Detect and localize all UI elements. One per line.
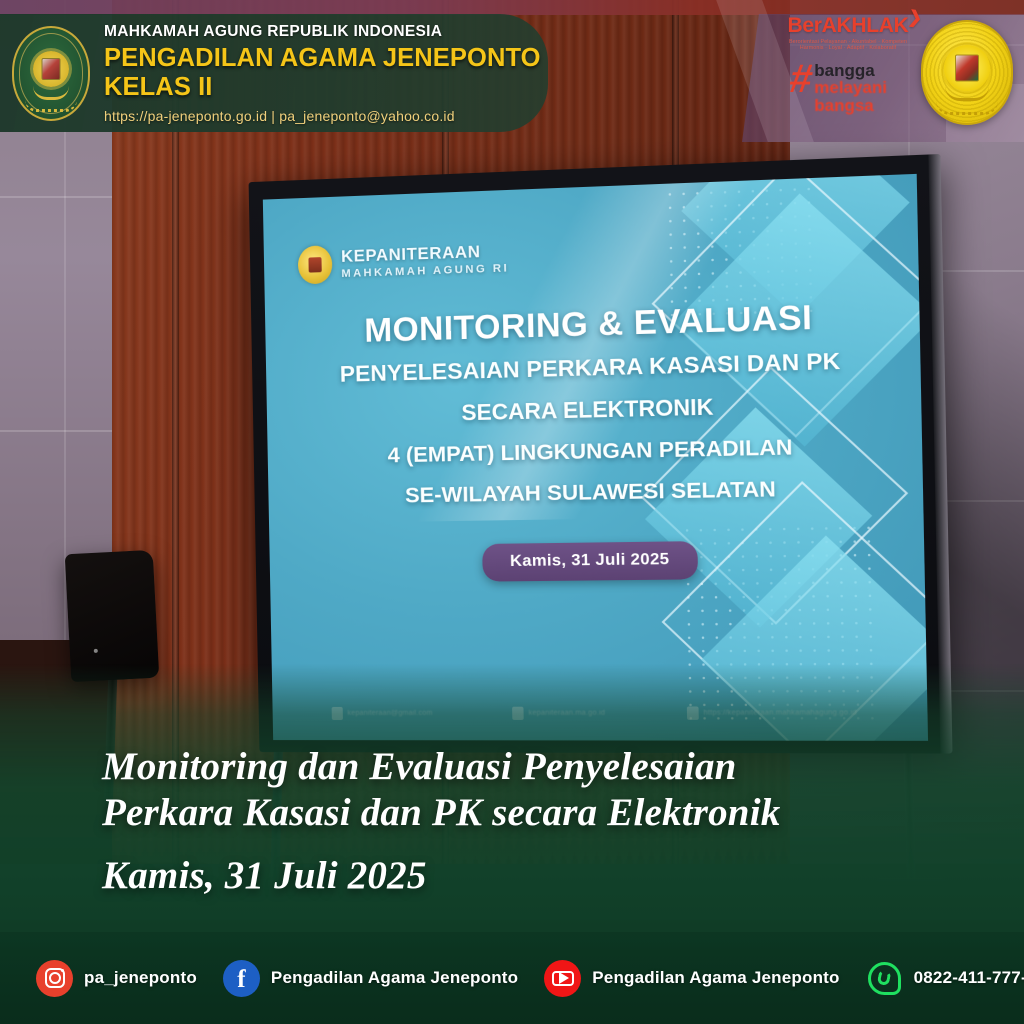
social-label-facebook: Pengadilan Agama Jeneponto — [271, 968, 518, 988]
slide-line4: 4 (EMPAT) LINGKUNGAN PERADILAN — [291, 433, 896, 471]
chevron-right-icon: ❯ — [907, 7, 924, 29]
kepaniteraan-logo: KEPANITERAAN MAHKAMAH AGUNG RI — [298, 239, 510, 285]
youtube-icon[interactable] — [544, 960, 581, 997]
slide-line2: PENYELESAIAN PERKARA KASASI DAN PK — [290, 347, 895, 389]
caption-line-1: Monitoring dan Evaluasi Penyelesaian — [102, 744, 942, 789]
whatsapp-icon[interactable] — [866, 960, 903, 997]
caption-line-3: Kamis, 31 Juli 2025 — [102, 853, 942, 898]
berakhlak-subtitle-2: Harmonis · Loyal · Adaptif · Kolaboratif — [778, 45, 918, 51]
slide-surface: KEPANITERAAN MAHKAMAH AGUNG RI MONITORIN… — [263, 174, 928, 741]
bangga-melayani-bangsa-logo: # bangga melayani bangsa — [790, 62, 887, 114]
kepaniteraan-seal-icon — [298, 245, 333, 284]
pa-jeneponto-seal-icon — [12, 26, 90, 121]
berakhlak-text: BerAKHLAK — [788, 14, 909, 37]
hashtag-icon: # — [788, 64, 815, 95]
social-item-instagram[interactable]: pa_jeneponto — [36, 960, 197, 997]
header-contact: https://pa-jeneponto.go.id | pa_jenepont… — [104, 108, 548, 124]
bangga-line-3: bangsa — [814, 97, 887, 114]
header-court-name: PENGADILAN AGAMA JENEPONTO KELAS II — [104, 44, 548, 102]
berakhlak-wordmark: BerAKHLAK ❯ — [778, 14, 918, 38]
top-accent-strip — [0, 0, 1024, 15]
berakhlak-logo: BerAKHLAK ❯ Berorientasi Pelayanan · Aku… — [778, 14, 918, 51]
instagram-icon[interactable] — [36, 960, 73, 997]
header-bar: MAHKAMAH AGUNG REPUBLIK INDONESIA PENGAD… — [0, 14, 548, 132]
loudspeaker — [65, 550, 160, 682]
social-item-youtube[interactable]: Pengadilan Agama Jeneponto — [544, 960, 839, 997]
social-media-bar: pa_jeneponto f Pengadilan Agama Jenepont… — [0, 932, 1024, 1024]
bangga-line-2: melayani — [814, 79, 887, 96]
header-institution: MAHKAMAH AGUNG REPUBLIK INDONESIA — [104, 23, 548, 41]
slide-text-block: MONITORING & EVALUASI PENYELESAIAN PERKA… — [265, 295, 925, 584]
social-label-youtube: Pengadilan Agama Jeneponto — [592, 968, 839, 988]
facebook-icon[interactable]: f — [223, 960, 260, 997]
slide-line3: SECARA ELEKTRONIK — [291, 390, 896, 431]
social-label-instagram: pa_jeneponto — [84, 968, 197, 988]
caption-block: Monitoring dan Evaluasi Penyelesaian Per… — [102, 744, 942, 898]
social-item-whatsapp[interactable]: 0822-411-777-58 — [866, 960, 1024, 997]
bangga-line-1: bangga — [814, 62, 887, 79]
social-item-facebook[interactable]: f Pengadilan Agama Jeneponto — [223, 960, 518, 997]
slide-date-badge: Kamis, 31 Juli 2025 — [482, 541, 699, 582]
poster-canvas: KEPANITERAAN MAHKAMAH AGUNG RI MONITORIN… — [0, 0, 1024, 1024]
slide-line5: SE-WILAYAH SULAWESI SELATAN — [292, 475, 897, 511]
social-label-whatsapp: 0822-411-777-58 — [914, 968, 1024, 988]
mahkamah-agung-seal-icon — [921, 20, 1013, 125]
caption-line-2: Perkara Kasasi dan PK secara Elektronik — [102, 790, 942, 835]
